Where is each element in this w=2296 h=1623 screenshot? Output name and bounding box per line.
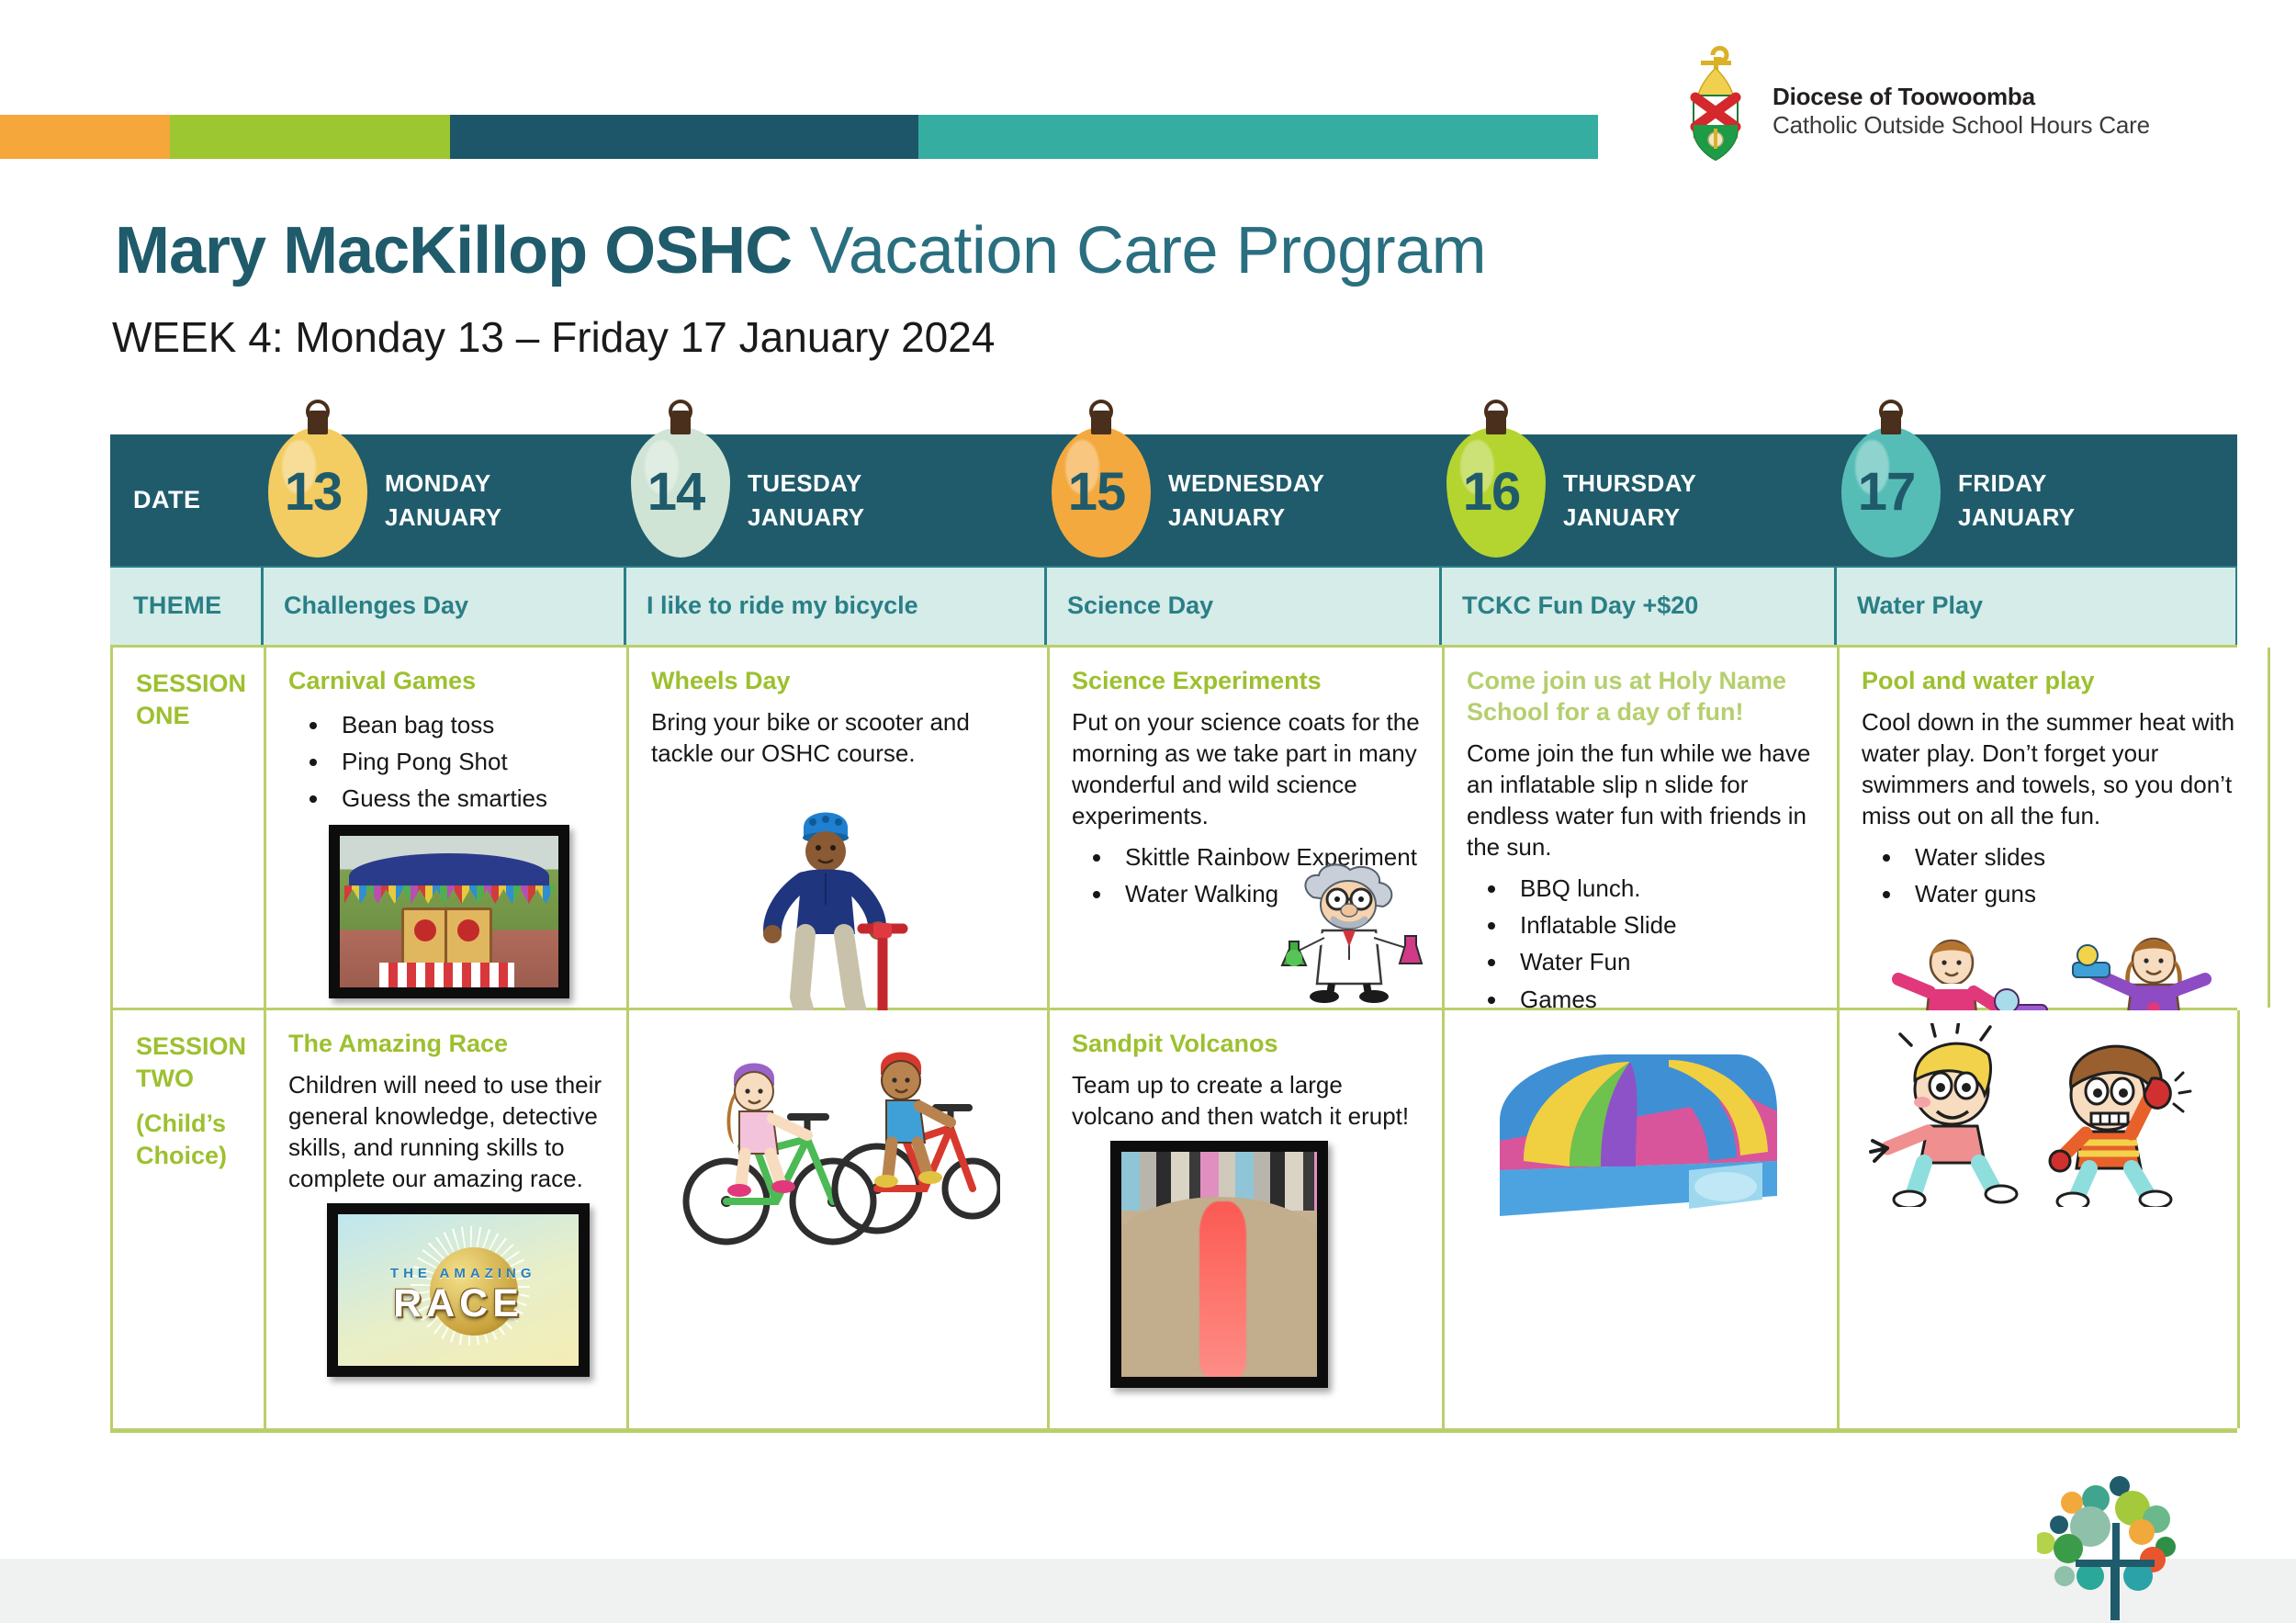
date-column-label: DATE xyxy=(110,486,264,514)
cell-friday-session-two xyxy=(1840,1010,2240,1428)
page-title-strong: Mary MacKillop OSHC xyxy=(115,214,792,287)
day-header-monday: 13 MONDAY JANUARY xyxy=(264,434,626,566)
diocese-name: Diocese of Toowoomba xyxy=(1773,84,2150,111)
ornament-15-icon: 15 xyxy=(1047,398,1155,581)
weekday-wednesday: WEDNESDAY xyxy=(1168,467,1324,501)
day-header-friday: 17 FRIDAY JANUARY xyxy=(1837,434,2237,566)
day-header-tuesday: 14 TUESDAY JANUARY xyxy=(626,434,1047,566)
list-item: BBQ lunch. xyxy=(1509,870,1815,907)
wednesday-s2-text: Team up to create a large volcano and th… xyxy=(1072,1069,1420,1132)
wednesday-s1-heading: Science Experiments xyxy=(1072,666,1420,697)
monday-s1-heading: Carnival Games xyxy=(288,666,604,697)
thursday-s1-bullets: BBQ lunch. Inflatable Slide Water Fun Ga… xyxy=(1467,870,1815,1018)
session-two-label-text: SESSION TWO xyxy=(136,1032,246,1092)
ornament-13-icon: 13 xyxy=(264,398,372,581)
day-label-wednesday: WEDNESDAY JANUARY xyxy=(1168,467,1324,535)
day-number-13: 13 xyxy=(264,427,363,558)
carnival-games-photo xyxy=(329,825,569,998)
brand-bar-segment-dark-teal xyxy=(450,115,918,159)
cell-thursday-session-one: Come join us at Holy Name School for a d… xyxy=(1445,648,1840,1008)
day-number-16: 16 xyxy=(1442,427,1541,558)
footer-bar xyxy=(0,1559,2296,1623)
wednesday-s1-text: Put on your science coats for the mornin… xyxy=(1072,706,1420,831)
session-one-label-text: SESSION ONE xyxy=(136,670,246,729)
diocese-subtitle: Catholic Outside School Hours Care xyxy=(1773,111,2150,140)
amazing-race-main-text: RACE xyxy=(353,1284,565,1324)
inflatable-slip-n-slide-photo xyxy=(1472,1032,1784,1225)
session-two-row: SESSION TWO (Child’s Choice) The Amazing… xyxy=(113,1010,2234,1428)
month-wednesday: JANUARY xyxy=(1168,501,1324,535)
cell-tuesday-session-two xyxy=(629,1010,1050,1428)
amazing-race-photo: THE AMAZING RACE xyxy=(327,1203,590,1377)
session-two-label: SESSION TWO (Child’s Choice) xyxy=(113,1010,266,1428)
day-header-wednesday: 15 WEDNESDAY JANUARY xyxy=(1047,434,1442,566)
thursday-s1-heading: Come join us at Holy Name School for a d… xyxy=(1467,666,1815,728)
friday-s1-text: Cool down in the summer heat with water … xyxy=(1862,706,2245,831)
list-item: Ping Pong Shot xyxy=(331,743,604,780)
list-item: Water guns xyxy=(1904,875,2245,912)
page-subtitle: WEEK 4: Monday 13 – Friday 17 January 20… xyxy=(112,312,995,362)
month-monday: JANUARY xyxy=(385,501,502,535)
ornament-17-icon: 17 xyxy=(1837,398,1945,581)
day-label-thursday: THURSDAY JANUARY xyxy=(1563,467,1696,535)
date-header-row: DATE 13 MONDAY JANUARY 14 TUESDAY JANUAR… xyxy=(110,434,2237,566)
diocese-logo-text: Diocese of Toowoomba Catholic Outside Sc… xyxy=(1773,84,2150,140)
page-title-light: Vacation Care Program xyxy=(792,214,1486,287)
amazing-race-top-text: THE AMAZING xyxy=(372,1266,555,1281)
cartoon-scientist-illustration xyxy=(1277,857,1433,1004)
day-number-17: 17 xyxy=(1837,427,1936,558)
weekday-friday: FRIDAY xyxy=(1958,467,2076,501)
weekday-tuesday: TUESDAY xyxy=(748,467,865,501)
brand-bar-segment-lime xyxy=(170,115,450,159)
cell-thursday-session-two xyxy=(1445,1010,1840,1428)
list-item: Bean bag toss xyxy=(331,706,604,743)
brand-bar-segment-orange xyxy=(0,115,170,159)
tuesday-s1-heading: Wheels Day xyxy=(651,666,1025,697)
month-thursday: JANUARY xyxy=(1563,501,1696,535)
catholic-education-cross-dots-icon xyxy=(2037,1475,2193,1622)
cell-wednesday-session-one: Science Experiments Put on your science … xyxy=(1050,648,1445,1008)
two-kids-on-bikes-illustration xyxy=(670,1018,1000,1257)
friday-s1-bullets: Water slides Water guns xyxy=(1862,839,2245,913)
day-label-monday: MONDAY JANUARY xyxy=(385,467,502,535)
session-two-sub-label: (Child’s Choice) xyxy=(136,1108,264,1172)
day-label-friday: FRIDAY JANUARY xyxy=(1958,467,2076,535)
cell-monday-session-two: The Amazing Race Children will need to u… xyxy=(266,1010,629,1428)
list-item: Guess the smarties xyxy=(331,780,604,817)
weekday-monday: MONDAY xyxy=(385,467,502,501)
day-header-thursday: 16 THURSDAY JANUARY xyxy=(1442,434,1837,566)
diocese-logo: Diocese of Toowoomba Catholic Outside Sc… xyxy=(1670,37,2239,165)
day-number-14: 14 xyxy=(626,427,726,558)
monday-s2-heading: The Amazing Race xyxy=(288,1029,604,1060)
sandpit-volcano-photo xyxy=(1110,1141,1328,1388)
bishop-crest-icon xyxy=(1670,37,1761,165)
thursday-s1-text: Come join the fun while we have an infla… xyxy=(1467,738,1815,862)
friday-s1-heading: Pool and water play xyxy=(1862,666,2245,697)
list-item: Water slides xyxy=(1904,839,2245,875)
vacation-care-program-table: DATE 13 MONDAY JANUARY 14 TUESDAY JANUAR… xyxy=(110,434,2237,1433)
day-label-tuesday: TUESDAY JANUARY xyxy=(748,467,865,535)
wednesday-s2-heading: Sandpit Volcanos xyxy=(1072,1029,1420,1060)
brand-bar-segment-teal xyxy=(918,115,1598,159)
cell-tuesday-session-one: Wheels Day Bring your bike or scooter an… xyxy=(629,648,1050,1008)
brand-color-bar xyxy=(0,115,1598,159)
cell-wednesday-session-two: Sandpit Volcanos Team up to create a lar… xyxy=(1050,1010,1445,1428)
list-item: Inflatable Slide xyxy=(1509,907,1815,943)
kids-with-water-balloon-illustration xyxy=(1856,1023,2205,1207)
ornament-16-icon: 16 xyxy=(1442,398,1550,581)
tuesday-s1-text: Bring your bike or scooter and tackle ou… xyxy=(651,706,1025,769)
monday-s1-bullets: Bean bag toss Ping Pong Shot Guess the s… xyxy=(288,706,604,817)
session-one-row: SESSION ONE Carnival Games Bean bag toss… xyxy=(113,648,2234,1010)
page-title: Mary MacKillop OSHC Vacation Care Progra… xyxy=(115,213,1486,288)
session-one-label: SESSION ONE xyxy=(113,648,266,1008)
weekday-thursday: THURSDAY xyxy=(1563,467,1696,501)
month-friday: JANUARY xyxy=(1958,501,2076,535)
day-number-15: 15 xyxy=(1047,427,1146,558)
theme-row-label: THEME xyxy=(110,568,264,645)
monday-s2-text: Children will need to use their general … xyxy=(288,1069,604,1194)
cell-monday-session-one: Carnival Games Bean bag toss Ping Pong S… xyxy=(266,648,629,1008)
ornament-14-icon: 14 xyxy=(626,398,735,581)
cell-friday-session-one: Pool and water play Cool down in the sum… xyxy=(1840,648,2270,1008)
month-tuesday: JANUARY xyxy=(748,501,865,535)
list-item: Water Fun xyxy=(1509,943,1815,980)
